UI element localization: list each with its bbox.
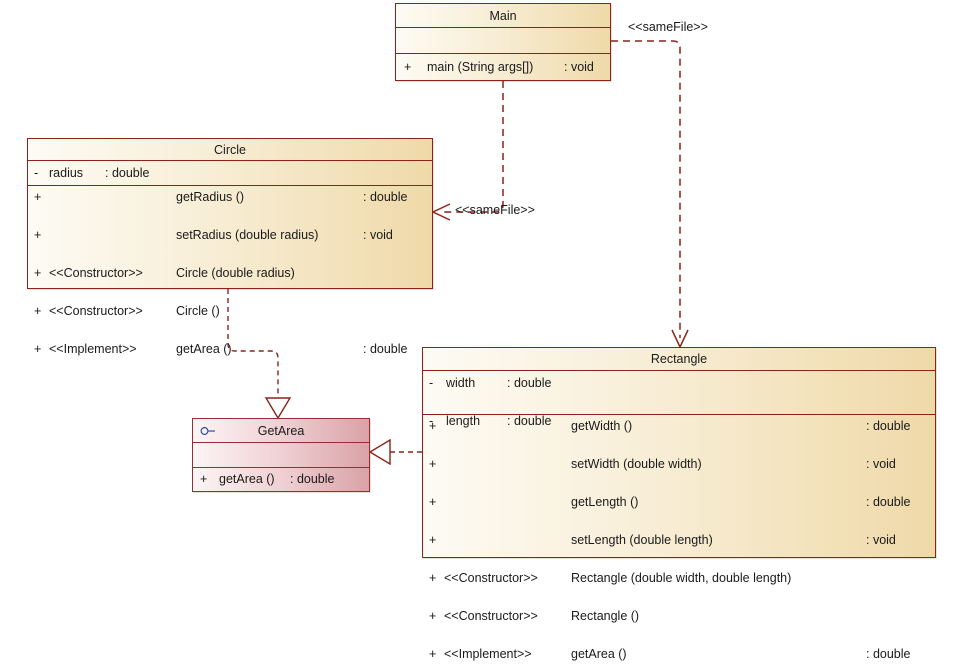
method-name: setWidth (double width) xyxy=(571,455,702,474)
method-name: Rectangle (double width, double length) xyxy=(571,569,791,588)
method-visibility: + xyxy=(34,302,46,321)
method-row: + <<Constructor>> Circle (double radius) xyxy=(28,264,432,283)
method-stereotype: <<Constructor>> xyxy=(444,607,538,626)
attribute-name: radius xyxy=(49,164,83,183)
method-stereotype: <<Constructor>> xyxy=(49,302,143,321)
method-name: getLength () xyxy=(571,493,638,512)
method-return-type: : void xyxy=(866,531,896,550)
method-name: getRadius () xyxy=(176,188,244,207)
method-row: + <<Implement>> getArea () : double xyxy=(28,340,432,359)
method-visibility: + xyxy=(34,226,46,245)
interface-title-getarea: GetArea xyxy=(193,419,369,443)
method-row: + getWidth () : double xyxy=(423,417,935,436)
method-return-type: : double xyxy=(866,417,910,436)
interface-attributes-getarea xyxy=(193,443,369,468)
method-name: getWidth () xyxy=(571,417,632,436)
class-box-rectangle[interactable]: Rectangle - width : double - length : do… xyxy=(422,347,936,558)
method-return-type: : void xyxy=(866,455,896,474)
class-box-main[interactable]: Main + main (String args[]) : void xyxy=(395,3,611,81)
edge-label-main-to-rectangle: <<sameFile>> xyxy=(628,21,708,34)
method-row: + getLength () : double xyxy=(423,493,935,512)
class-attributes-rectangle: - width : double - length : double xyxy=(423,371,935,415)
method-return-type: : double xyxy=(866,493,910,512)
method-visibility: + xyxy=(429,417,441,436)
method-visibility: + xyxy=(429,607,441,626)
edge-label-main-to-circle: <<sameFile>> xyxy=(455,204,535,217)
method-visibility: + xyxy=(429,493,441,512)
class-methods-rectangle: + getWidth () : double + setWidth (doubl… xyxy=(423,415,935,557)
method-row: + <<Constructor>> Rectangle (double widt… xyxy=(423,569,935,588)
method-return-type: : double xyxy=(290,470,334,489)
edge-main-to-rectangle-line xyxy=(611,41,680,338)
method-name: main (String args[]) xyxy=(427,58,533,77)
class-title-main: Main xyxy=(396,4,610,28)
method-return-type: : double xyxy=(866,645,910,664)
method-visibility: + xyxy=(34,188,46,207)
method-visibility: + xyxy=(429,645,441,664)
method-row: + setRadius (double radius) : void xyxy=(28,226,432,245)
class-attributes-main xyxy=(396,28,610,54)
class-box-circle[interactable]: Circle - radius : double + getRadius () … xyxy=(27,138,433,289)
attribute-visibility: - xyxy=(34,164,46,183)
edge-main-to-circle-arrowhead xyxy=(433,204,450,220)
method-row: + <<Constructor>> Rectangle () xyxy=(423,607,935,626)
class-title-rectangle: Rectangle xyxy=(423,348,935,371)
method-stereotype: <<Constructor>> xyxy=(49,264,143,283)
method-name: getArea () xyxy=(176,340,232,359)
method-row: + getRadius () : double xyxy=(28,188,432,207)
attribute-row: - width : double xyxy=(423,374,935,393)
edge-main-to-circle-line xyxy=(442,81,503,212)
method-row: + <<Implement>> getArea () : double xyxy=(423,645,935,664)
method-visibility: + xyxy=(200,470,212,489)
edge-circle-to-getarea-arrowhead xyxy=(266,398,290,418)
edge-main-to-rectangle-arrowhead xyxy=(672,330,688,347)
edge-rectangle-to-getarea-arrowhead xyxy=(370,440,390,464)
method-name: setRadius (double radius) xyxy=(176,226,318,245)
method-visibility: + xyxy=(34,264,46,283)
attribute-type: : double xyxy=(507,374,551,393)
method-visibility: + xyxy=(429,455,441,474)
class-methods-main: + main (String args[]) : void xyxy=(396,54,610,80)
attribute-row: - radius : double xyxy=(28,164,432,183)
interface-box-getarea[interactable]: GetArea + getArea () : double xyxy=(192,418,370,492)
diagram-canvas: <<sameFile>> <<sameFile>> Main + main (S… xyxy=(0,0,954,568)
method-row: + setWidth (double width) : void xyxy=(423,455,935,474)
method-name: Rectangle () xyxy=(571,607,639,626)
method-name: Circle (double radius) xyxy=(176,264,295,283)
attribute-name: width xyxy=(446,374,475,393)
class-title-circle: Circle xyxy=(28,139,432,161)
interface-name: GetArea xyxy=(258,424,305,438)
method-name: setLength (double length) xyxy=(571,531,713,550)
method-visibility: + xyxy=(429,531,441,550)
method-name: Circle () xyxy=(176,302,220,321)
method-row: + getArea () : double xyxy=(193,470,369,489)
method-row: + <<Constructor>> Circle () xyxy=(28,302,432,321)
method-row: + main (String args[]) : void xyxy=(396,58,610,77)
method-visibility: + xyxy=(404,58,416,77)
method-return-type: : double xyxy=(363,188,407,207)
interface-methods-getarea: + getArea () : double xyxy=(193,468,369,491)
method-stereotype: <<Implement>> xyxy=(444,645,532,664)
method-visibility: + xyxy=(34,340,46,359)
method-row: + setLength (double length) : void xyxy=(423,531,935,550)
method-visibility: + xyxy=(429,569,441,588)
class-attributes-circle: - radius : double xyxy=(28,161,432,186)
method-name: getArea () xyxy=(571,645,627,664)
interface-lollipop-icon xyxy=(200,426,216,435)
method-stereotype: <<Constructor>> xyxy=(444,569,538,588)
method-name: getArea () xyxy=(219,470,275,489)
class-methods-circle: + getRadius () : double + setRadius (dou… xyxy=(28,186,432,288)
method-stereotype: <<Implement>> xyxy=(49,340,137,359)
method-return-type: : double xyxy=(363,340,407,359)
attribute-visibility: - xyxy=(429,374,441,393)
attribute-type: : double xyxy=(105,164,149,183)
method-return-type: : void xyxy=(564,58,594,77)
method-return-type: : void xyxy=(363,226,393,245)
